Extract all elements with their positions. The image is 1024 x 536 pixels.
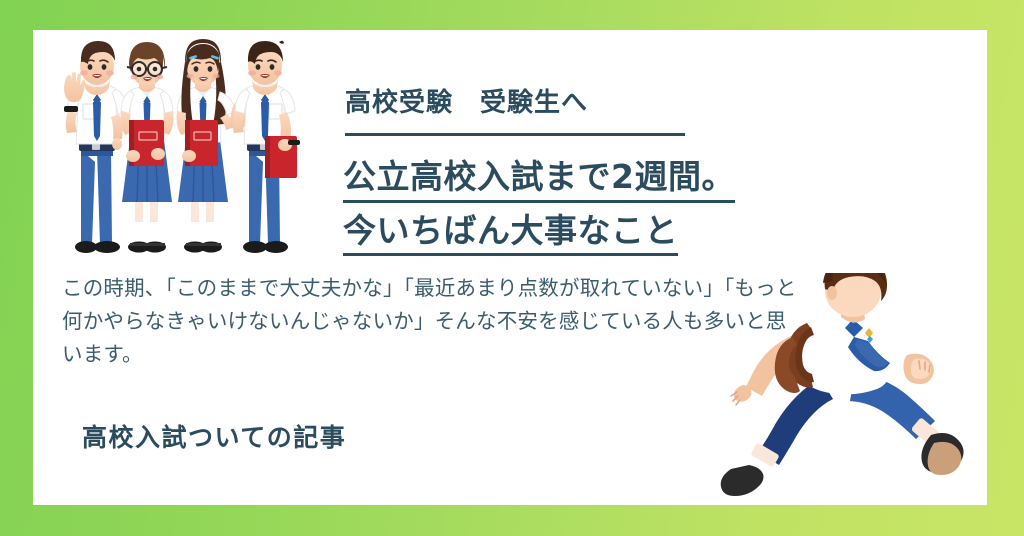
main-headline: 公立高校入試まで2週間。 今いちばん大事なこと bbox=[343, 155, 963, 256]
student-girl-longhair bbox=[177, 39, 251, 253]
heading-divider bbox=[345, 133, 685, 136]
students-group-illustration bbox=[59, 32, 319, 262]
student-boy-right bbox=[233, 41, 300, 253]
promo-banner: 高校受験 受験生へ 公立高校入試まで2週間。 今いちばん大事なこと この時期、「… bbox=[0, 0, 1024, 536]
headline-line-1: 公立高校入試まで2週間。 bbox=[343, 155, 735, 203]
student-boy-left bbox=[64, 41, 127, 253]
eyebrow-heading: 高校受験 受験生へ bbox=[345, 82, 588, 119]
student-girl-glasses bbox=[121, 42, 174, 253]
content-card: 高校受験 受験生へ 公立高校入試まで2週間。 今いちばん大事なこと この時期、「… bbox=[33, 30, 987, 505]
article-subheading: 高校入試ついての記事 bbox=[82, 418, 346, 454]
body-paragraph: この時期、「このままで大丈夫かな」「最近あまり点数が取れていない」「もっと何かや… bbox=[62, 272, 807, 372]
headline-line-2: 今いちばん大事なこと bbox=[343, 209, 678, 257]
